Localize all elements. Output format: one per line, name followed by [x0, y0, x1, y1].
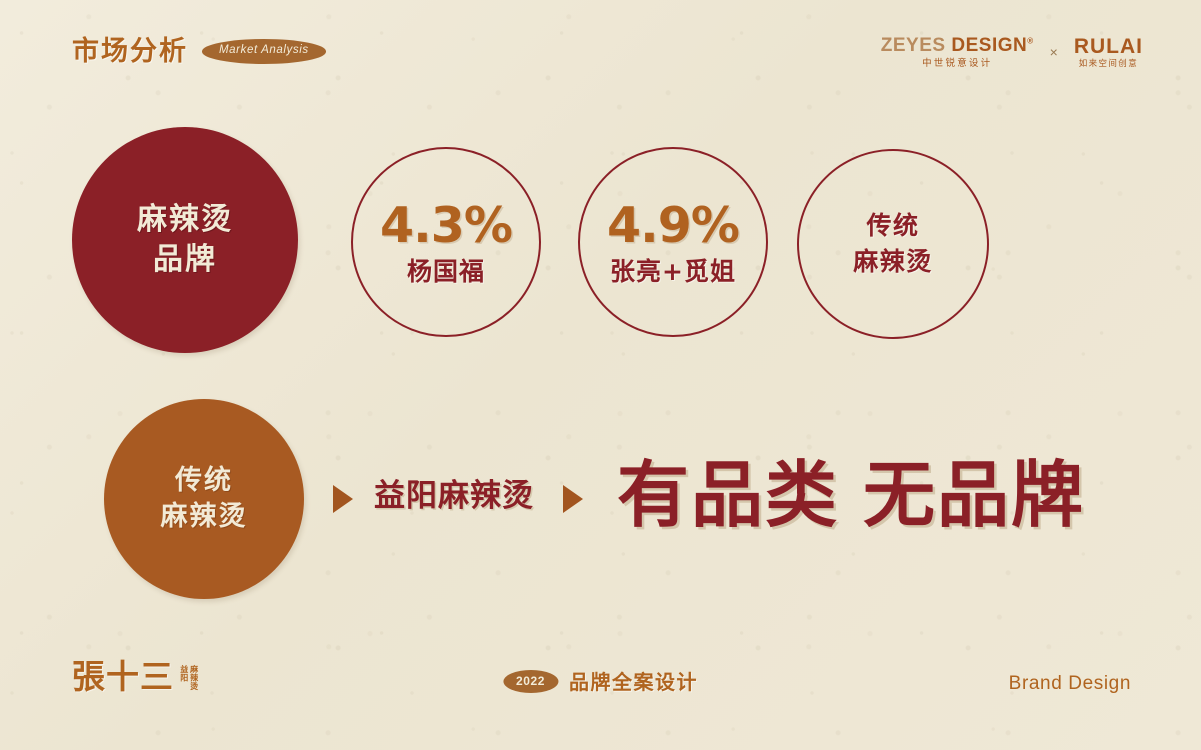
brand-category-circle: 麻辣烫 品牌 — [72, 127, 298, 353]
zeyes-logo-part2: DESIGN — [951, 35, 1027, 56]
stat-value-1: 4.3% — [380, 201, 512, 250]
header-subtitle-badge: Market Analysis — [202, 39, 326, 64]
traditional-circle-line-2: 麻辣烫 — [853, 244, 933, 280]
stat-value-2: 4.9% — [607, 201, 739, 250]
stat-label-2: 张亮+觅姐 — [610, 259, 736, 284]
footer-center-group: 2022 品牌全案设计 — [503, 670, 698, 693]
footer-logo-wordmark: 張十三 — [72, 660, 174, 693]
footer-seal-column-2: 益阳 — [179, 665, 188, 691]
orange-circle-line-2: 麻辣烫 — [161, 499, 248, 535]
footer-seal-column-1: 麻辣烫 — [189, 665, 198, 691]
traditional-circle-outline: 传统 麻辣烫 — [797, 149, 989, 339]
zeyes-logo-wordmark: ZEYES DESIGN® — [881, 36, 1034, 55]
page-title: 市场分析 — [72, 38, 188, 65]
traditional-category-circle: 传统 麻辣烫 — [104, 399, 304, 599]
year-badge: 2022 — [503, 670, 558, 693]
arrow-right-icon-1 — [333, 485, 353, 513]
rulai-logo-subtitle: 如来空间创意 — [1074, 60, 1143, 69]
stat-circle-yangguofu: 4.3% 杨国福 — [351, 147, 541, 337]
registered-trademark-icon: ® — [1027, 37, 1033, 46]
headline-part-2: 无品牌 — [863, 453, 1085, 537]
orange-circle-line-1: 传统 — [175, 463, 233, 499]
slide-header: 市场分析 Market Analysis ZEYES DESIGN® 中世锐意设… — [72, 38, 1143, 84]
slide-canvas: 市场分析 Market Analysis ZEYES DESIGN® 中世锐意设… — [0, 0, 1201, 750]
arrow-right-icon-2 — [563, 485, 583, 513]
stat-label-1: 杨国福 — [407, 259, 485, 284]
zeyes-logo-subtitle: 中世锐意设计 — [881, 59, 1034, 69]
regional-brand-label: 益阳麻辣烫 — [374, 481, 534, 512]
brand-circle-line-2: 品牌 — [153, 240, 217, 280]
zeyes-design-logo: ZEYES DESIGN® 中世锐意设计 — [881, 36, 1034, 69]
slide-headline: 有品类无品牌 — [617, 459, 1085, 531]
footer-logo-seal-mark: 麻辣烫 益阳 — [179, 665, 198, 694]
footer-client-logo: 張十三 麻辣烫 益阳 — [72, 660, 198, 693]
zeyes-logo-part1: ZEYES — [881, 35, 946, 56]
header-title-group: 市场分析 Market Analysis — [72, 38, 326, 65]
stat-circle-zhangliang: 4.9% 张亮+觅姐 — [578, 147, 768, 337]
logo-separator-icon: × — [1048, 44, 1060, 60]
rulai-logo-wordmark: RULAI — [1074, 36, 1143, 57]
headline-part-1: 有品类 — [617, 453, 839, 537]
brand-logos: ZEYES DESIGN® 中世锐意设计 × RULAI 如来空间创意 — [881, 36, 1143, 69]
footer-project-label: 品牌全案设计 — [569, 672, 698, 692]
traditional-circle-line-1: 传统 — [866, 208, 919, 244]
brand-circle-line-1: 麻辣烫 — [137, 200, 233, 240]
rulai-logo: RULAI 如来空间创意 — [1074, 36, 1143, 69]
footer-brand-design-label: Brand Design — [1009, 674, 1131, 693]
